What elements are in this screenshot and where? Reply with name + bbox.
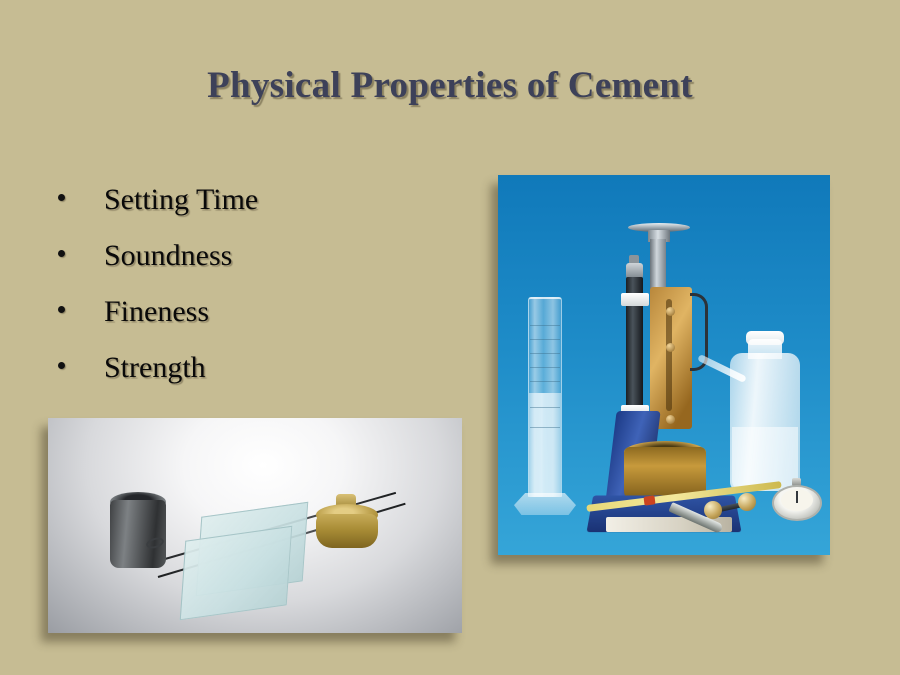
vicat-photo-content bbox=[498, 175, 830, 555]
list-item: Strength bbox=[48, 340, 468, 396]
bullet-label: Fineness bbox=[104, 295, 209, 329]
graduated-cylinder-base bbox=[514, 493, 576, 515]
bullet-label: Setting Time bbox=[104, 183, 258, 217]
bullet-dot-icon bbox=[58, 306, 65, 313]
cylinder-graduation-mark bbox=[530, 407, 560, 408]
bullet-dot-icon bbox=[58, 362, 65, 369]
stopwatch-hand bbox=[796, 491, 798, 503]
dumbbell-weight-ball bbox=[704, 501, 722, 519]
cylinder-graduation-mark bbox=[530, 353, 560, 354]
cylinder-graduation-mark bbox=[530, 427, 560, 428]
bullet-dot-icon bbox=[58, 250, 65, 257]
vicat-apparatus-photo bbox=[498, 175, 830, 555]
bullet-label: Soundness bbox=[104, 239, 232, 273]
cylinder-graduation-mark bbox=[530, 367, 560, 368]
bullet-list: Setting Time Soundness Fineness Strength bbox=[48, 172, 468, 396]
list-item: Soundness bbox=[48, 228, 468, 284]
vicat-scale-screw bbox=[666, 415, 675, 424]
vicat-scale-screw bbox=[666, 343, 675, 352]
le-chatelier-mould bbox=[110, 500, 166, 568]
le-chatelier-apparatus-photo bbox=[48, 418, 462, 633]
page-title: Physical Properties of Cement bbox=[0, 64, 900, 107]
bullet-dot-icon bbox=[58, 194, 65, 201]
vicat-scale-screw bbox=[666, 307, 675, 316]
le-chatelier-photo-content bbox=[48, 418, 462, 633]
graduated-cylinder-liquid bbox=[529, 393, 561, 497]
cylinder-graduation-mark bbox=[530, 339, 560, 340]
thermometer-bulb bbox=[643, 495, 655, 505]
glass-plate bbox=[180, 526, 293, 621]
dumbbell-weight-ball bbox=[738, 493, 756, 511]
bullet-label: Strength bbox=[104, 351, 206, 385]
slide-canvas: Physical Properties of Cement Setting Ti… bbox=[0, 0, 900, 675]
cylinder-graduation-mark bbox=[530, 325, 560, 326]
brass-weight-body bbox=[316, 514, 378, 548]
wash-bottle-liquid bbox=[732, 427, 798, 489]
list-item: Fineness bbox=[48, 284, 468, 340]
cylinder-graduation-mark bbox=[530, 381, 560, 382]
list-item: Setting Time bbox=[48, 172, 468, 228]
vicat-collar bbox=[621, 293, 649, 306]
